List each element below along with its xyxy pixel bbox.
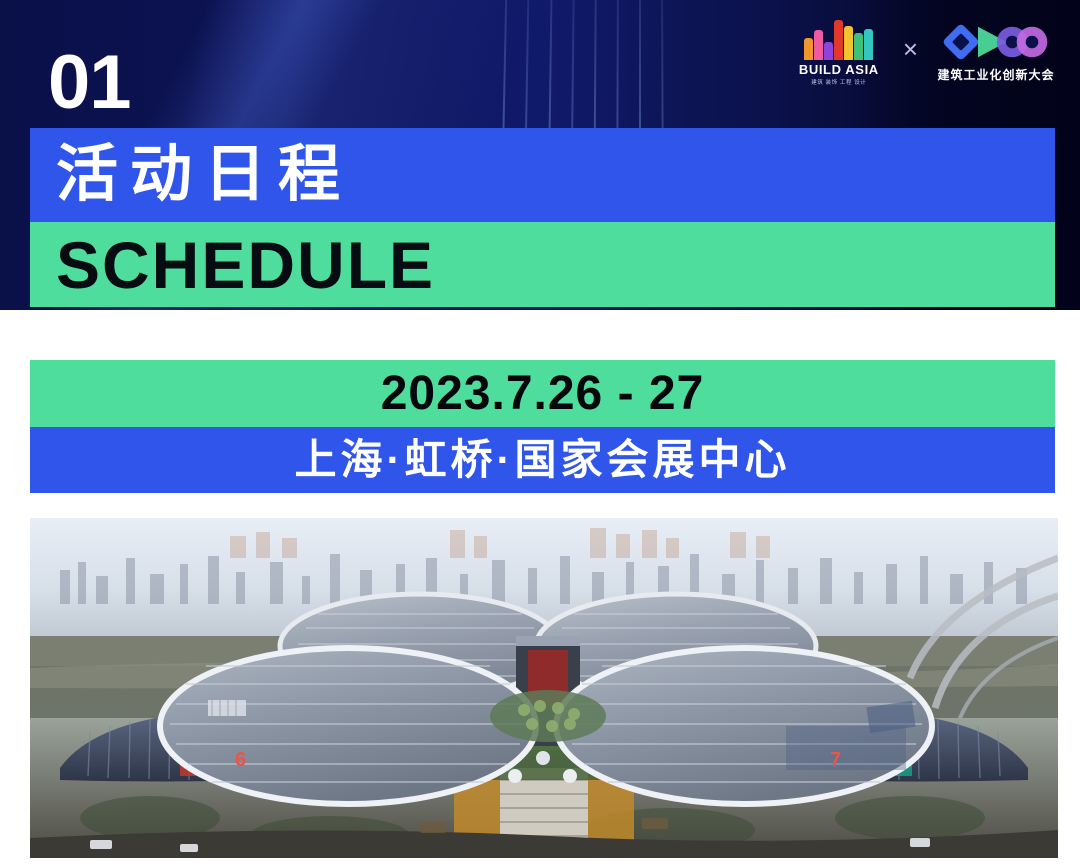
event-date: 2023.7.26 - 27 — [381, 370, 705, 418]
conference-wordmark: 建筑工业化创新大会 — [937, 66, 1054, 83]
aerial-view-illustration: 6 7 — [30, 518, 1058, 858]
venue-photo: 6 7 — [30, 518, 1058, 858]
event-venue: 上海·虹桥·国家会展中心 — [295, 439, 791, 481]
hall-label: 6 — [235, 749, 246, 771]
step-number: 01 — [48, 45, 131, 121]
chinese-title: 活动日程 — [56, 144, 352, 206]
shapes-logo-icon — [942, 21, 1050, 63]
date-band: 2023.7.26 - 27 — [30, 360, 1055, 427]
logo-row: BUILD ASIA 建筑 装饰 工程 设计 × 建筑工业化创新大会 — [793, 18, 1056, 86]
venue-band: 上海·虹桥·国家会展中心 — [30, 427, 1055, 493]
english-title-band: SCHEDULE — [30, 222, 1055, 307]
build-asia-logo: BUILD ASIA 建筑 装饰 工程 设计 — [793, 18, 885, 86]
building-bars-icon — [804, 18, 873, 60]
conference-logo: 建筑工业化创新大会 — [936, 21, 1056, 83]
schedule-poster: 01 BUILD ASIA 建筑 装饰 工程 设计 × — [0, 0, 1080, 865]
cross-icon: × — [903, 36, 918, 62]
chinese-title-band: 活动日程 — [30, 128, 1055, 222]
build-asia-wordmark: BUILD ASIA — [799, 62, 879, 77]
build-asia-subtitle: 建筑 装饰 工程 设计 — [811, 78, 866, 86]
hall-label: 7 — [830, 749, 841, 771]
english-title: SCHEDULE — [56, 232, 435, 298]
